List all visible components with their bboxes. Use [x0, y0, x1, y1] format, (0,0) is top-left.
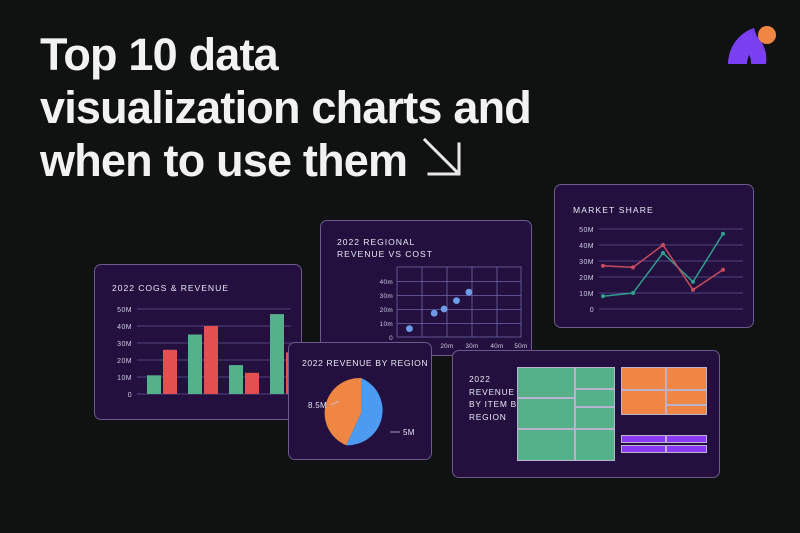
- treemap-tile: [666, 367, 707, 390]
- card-revenue-by-region[interactable]: 2022 REVENUE BY REGION 8.5M 5M: [288, 342, 432, 460]
- svg-text:40M: 40M: [579, 243, 594, 250]
- treemap-tile: [517, 367, 575, 398]
- svg-text:30m: 30m: [465, 343, 478, 350]
- poster-canvas: Top 10 data visualization charts and whe…: [0, 0, 800, 533]
- chart-title-bar: 2022 COGS & REVENUE: [112, 282, 229, 294]
- card-cogs-and-revenue[interactable]: 2022 COGS & REVENUE 50M 40M 30M 20M 10M …: [94, 264, 302, 420]
- scatter-chart-plot: 40m 30m 20m 10m 0 10m 20m 30m 40m 50m: [321, 263, 532, 353]
- svg-text:50m: 50m: [514, 343, 527, 350]
- treemap-tile: [575, 389, 615, 407]
- treemap-tile: [666, 435, 707, 443]
- svg-text:5M: 5M: [403, 428, 415, 437]
- card-market-share[interactable]: MARKET SHARE 50M 40M 30M 20M 10M 0: [554, 184, 754, 328]
- treemap-tile: [621, 367, 666, 390]
- svg-text:50M: 50M: [117, 307, 132, 314]
- page-title-line-3: when to use them: [40, 134, 640, 191]
- svg-text:20m: 20m: [380, 307, 393, 314]
- svg-text:0: 0: [389, 335, 393, 342]
- arrow-down-right-icon: [421, 136, 465, 191]
- pie-chart-plot: 8.5M 5M: [289, 343, 432, 460]
- svg-text:20M: 20M: [117, 358, 132, 365]
- svg-text:40m: 40m: [490, 343, 503, 350]
- treemap-tile: [666, 405, 707, 415]
- svg-text:10M: 10M: [117, 375, 132, 382]
- svg-text:40m: 40m: [380, 279, 393, 286]
- chart-title-scatter-line-1: 2022 REGIONAL: [337, 236, 433, 248]
- chart-title-scatter-line-2: REVENUE VS COST: [337, 248, 433, 260]
- treemap-tile: [621, 390, 666, 415]
- page-title-line-2: visualization charts and: [40, 81, 640, 134]
- treemap-tile: [666, 390, 707, 405]
- line-chart-plot: 50M 40M 30M 20M 10M 0: [555, 221, 754, 327]
- svg-text:0: 0: [590, 307, 594, 314]
- page-title-line-1: Top 10 data: [40, 28, 640, 81]
- svg-text:40M: 40M: [117, 324, 132, 331]
- bar-chart-plot: 50M 40M 30M 20M 10M 0: [95, 301, 302, 411]
- treemap-tile: [517, 398, 575, 429]
- svg-text:20M: 20M: [579, 275, 594, 282]
- svg-text:30M: 30M: [579, 259, 594, 266]
- chart-title-scatter: 2022 REGIONAL REVENUE VS COST: [337, 236, 433, 260]
- svg-text:8.5M: 8.5M: [308, 401, 327, 410]
- treemap-tile: [575, 407, 615, 429]
- card-revenue-by-item-by-region[interactable]: 2022 REVENUE BY ITEM BY REGION: [452, 350, 720, 478]
- page-title: Top 10 data visualization charts and whe…: [40, 28, 640, 191]
- svg-text:10m: 10m: [380, 321, 393, 328]
- treemap-tile: [575, 367, 615, 389]
- treemap-plot: [517, 367, 707, 463]
- card-regional-revenue-vs-cost[interactable]: 2022 REGIONAL REVENUE VS COST 40m 30m 20…: [320, 220, 532, 356]
- svg-text:10M: 10M: [579, 291, 594, 298]
- treemap-tile: [621, 435, 666, 443]
- treemap-tile: [517, 429, 575, 461]
- brand-logo: [722, 20, 778, 66]
- svg-text:0: 0: [128, 392, 132, 399]
- treemap-tile: [575, 429, 615, 461]
- treemap-tile: [621, 445, 666, 453]
- svg-text:20m: 20m: [440, 343, 453, 350]
- chart-title-line: MARKET SHARE: [573, 204, 654, 216]
- svg-text:30M: 30M: [117, 341, 132, 348]
- svg-text:50M: 50M: [579, 227, 594, 234]
- logo-dot-icon: [758, 26, 776, 44]
- svg-text:30m: 30m: [380, 293, 393, 300]
- treemap-tile: [666, 445, 707, 453]
